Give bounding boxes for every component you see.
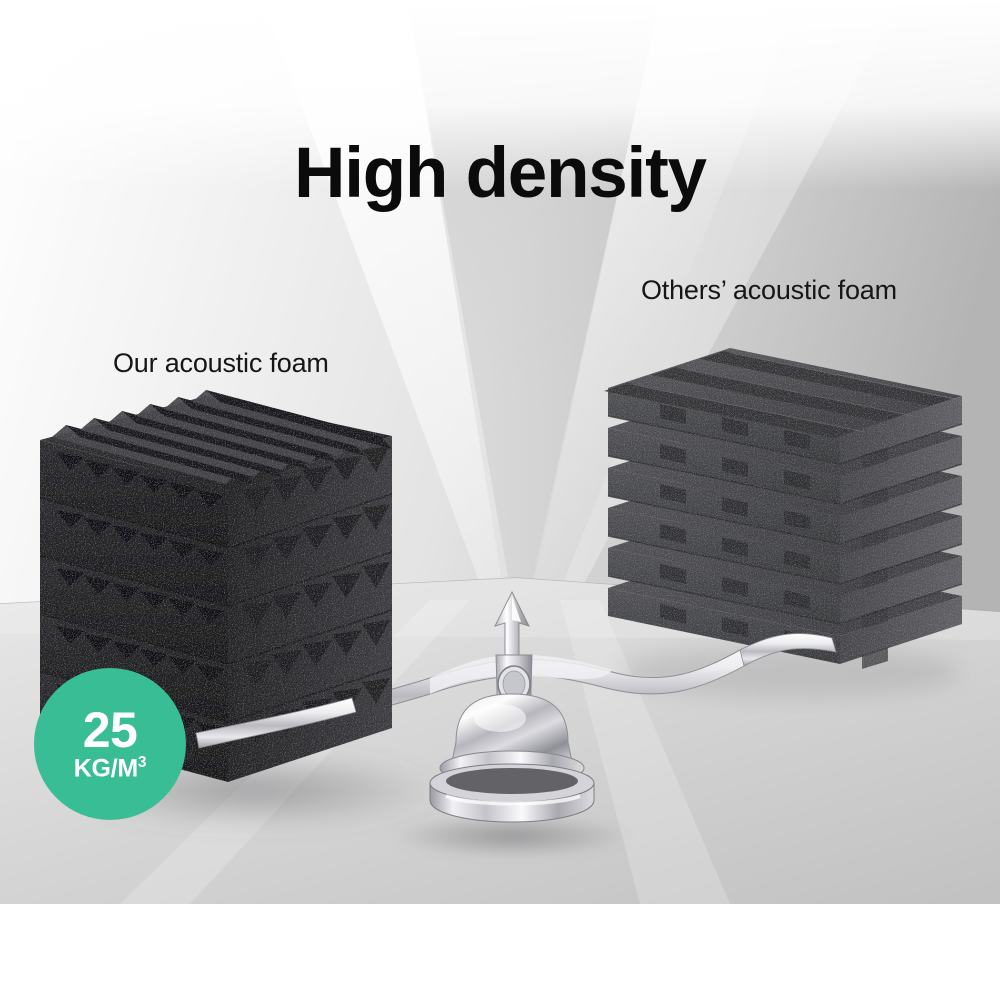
density-badge: 25 KG/M3 [34, 668, 186, 820]
density-badge-unit-exponent: 3 [138, 754, 146, 771]
scale-base-disc-inset [446, 768, 578, 794]
density-badge-value: 25 [83, 707, 138, 753]
page-title: High density [0, 138, 1000, 209]
label-others-acoustic-foam: Others’ acoustic foam [641, 277, 897, 304]
scale-pivot-bearing-inner [503, 671, 525, 697]
foam-stack-others [604, 348, 962, 669]
product-marketing-image: High density Our acoustic foam Others’ a… [0, 0, 1000, 1000]
density-badge-unit: KG/M3 [74, 755, 146, 781]
label-our-acoustic-foam: Our acoustic foam [113, 350, 329, 377]
scale-dome-highlight [474, 704, 526, 732]
density-badge-unit-text: KG/M [74, 754, 138, 782]
